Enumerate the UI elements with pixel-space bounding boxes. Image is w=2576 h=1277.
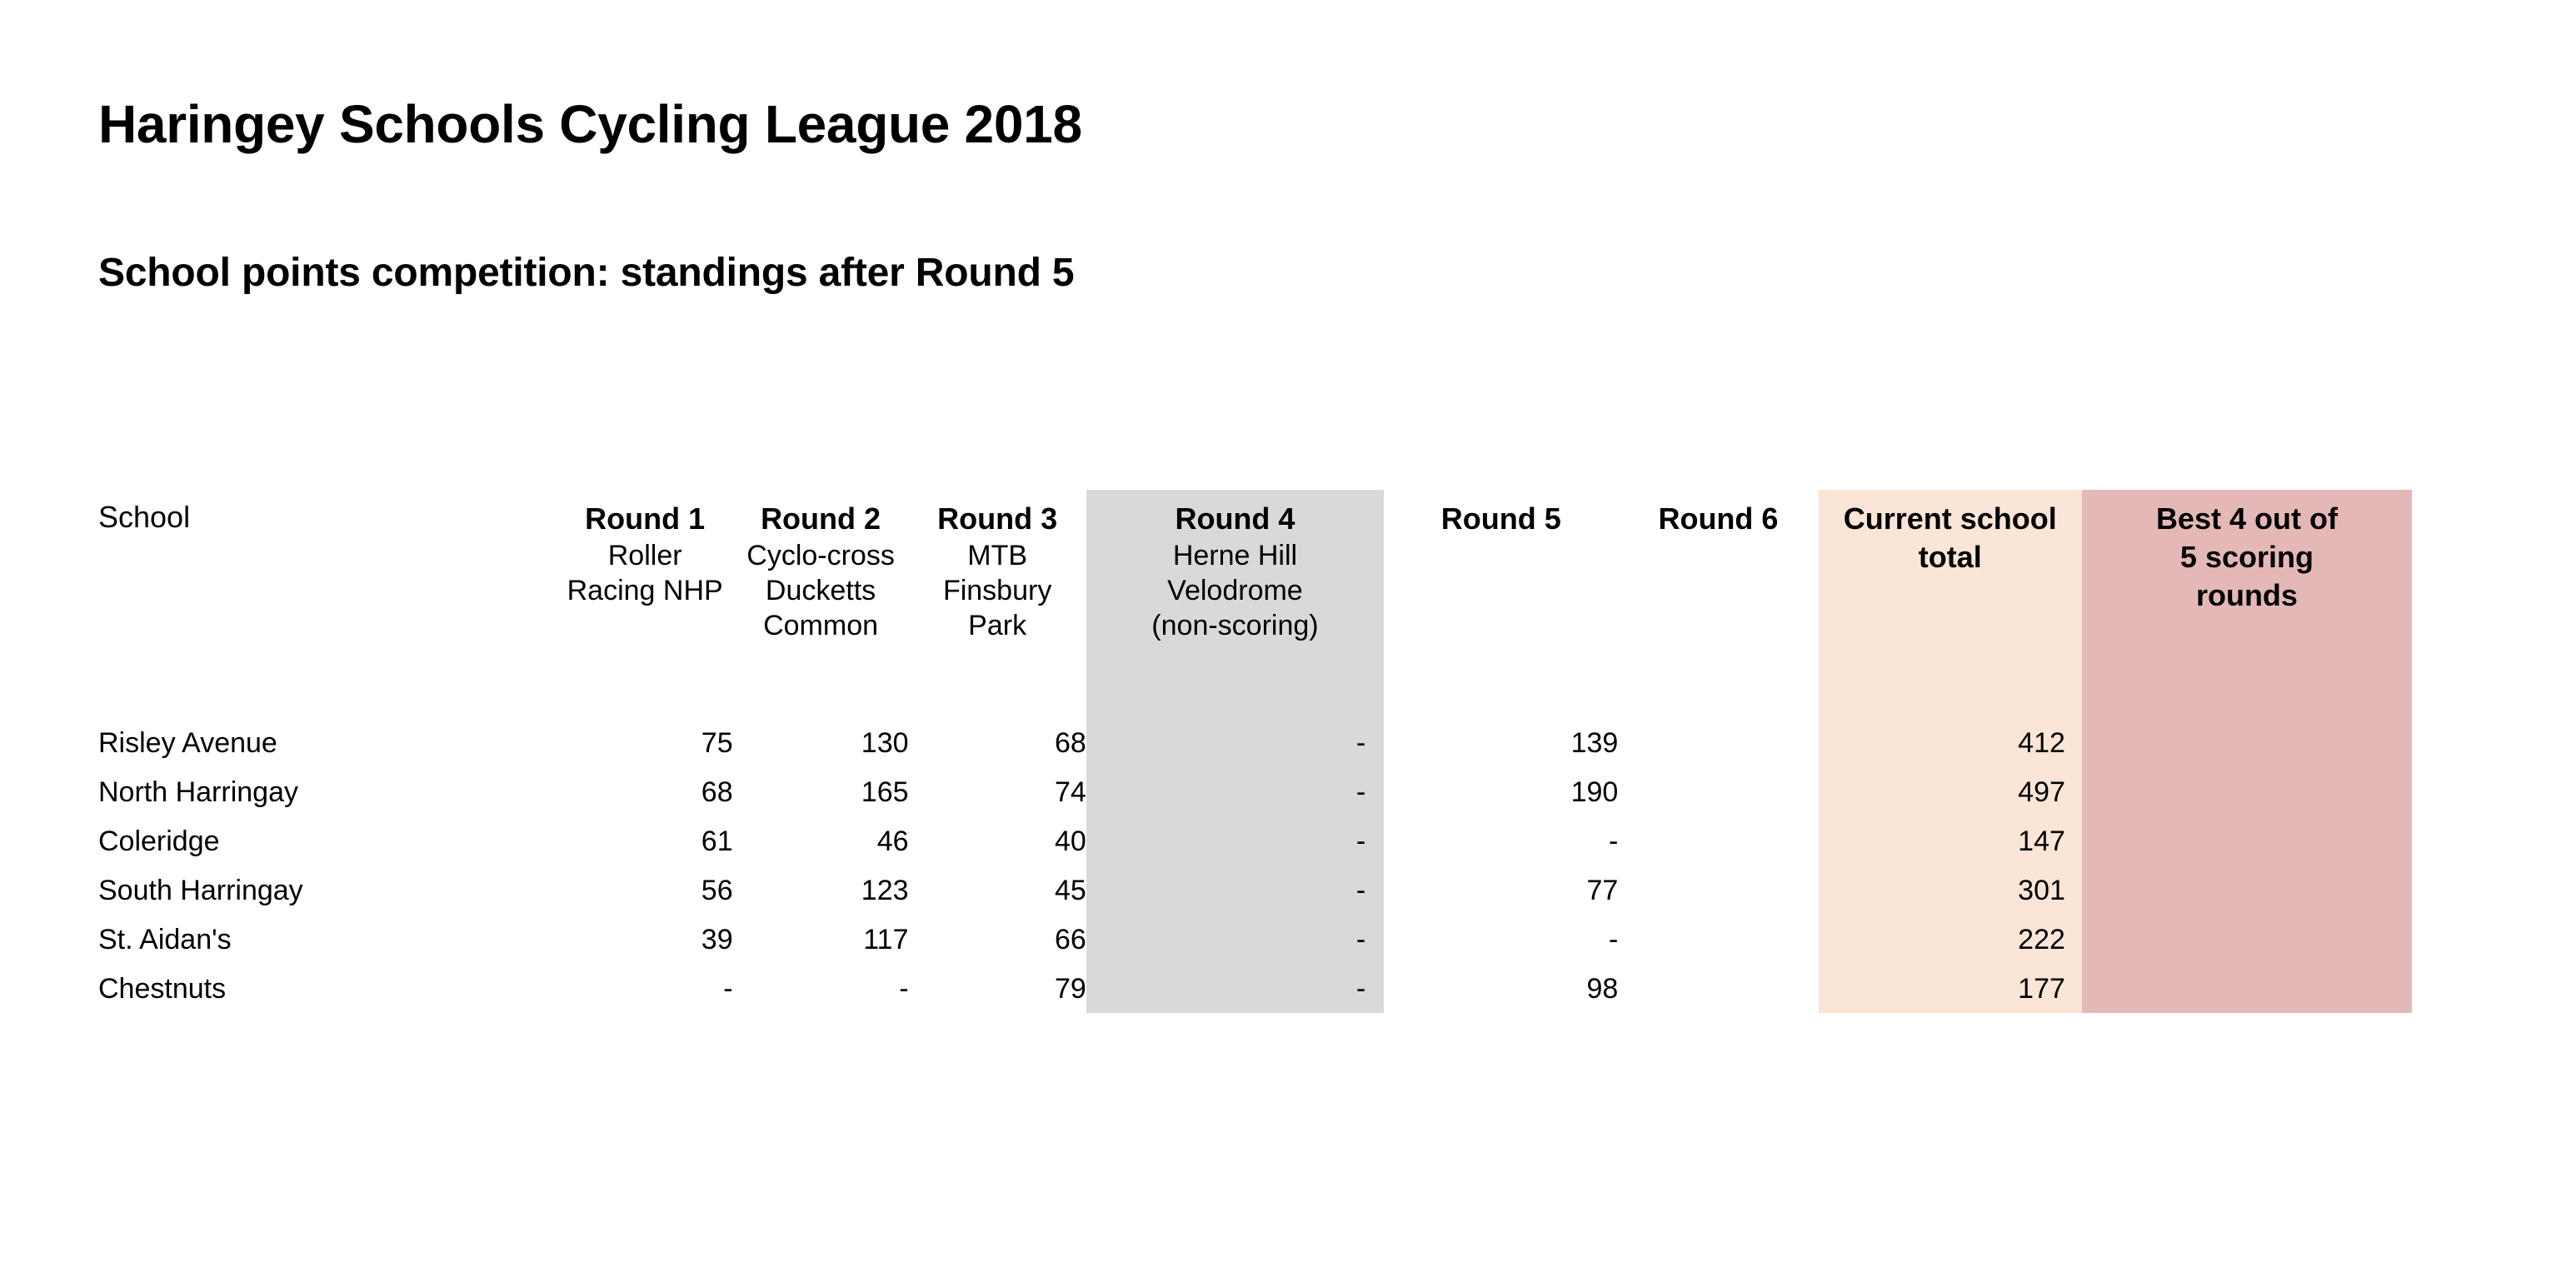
cell-round-6 — [1618, 767, 1818, 816]
round-1-venue-line-1: Roller — [557, 538, 733, 573]
column-header-round-2: Round 2 Cyclo-cross Ducketts Common — [733, 490, 909, 683]
cell-school: North Harringay — [98, 767, 557, 816]
cell-current-total: 147 — [1819, 816, 2082, 865]
best4-label-line-1: Best 4 out of — [2082, 500, 2412, 538]
cell-round-6 — [1618, 865, 1818, 915]
standings-table-container: School Round 1 Roller Racing NHP Round 2… — [98, 490, 2423, 1013]
table-row: Chestnuts - - 79 - 98 177 — [98, 964, 2412, 1013]
cell-round-4: - — [1086, 915, 1384, 964]
header-body-spacer-row — [98, 683, 2412, 718]
round-4-venue-line-3: (non-scoring) — [1086, 608, 1384, 643]
cell-school: Risley Avenue — [98, 718, 557, 767]
header-row: School Round 1 Roller Racing NHP Round 2… — [98, 490, 2412, 683]
table-header: School Round 1 Roller Racing NHP Round 2… — [98, 490, 2412, 683]
round-2-venue-line-1: Cyclo-cross — [733, 538, 909, 573]
cell-round-4: - — [1086, 964, 1384, 1013]
cell-round-5: 98 — [1384, 964, 1618, 1013]
cell-best-4 — [2082, 915, 2412, 964]
spacer-best4 — [2082, 683, 2412, 718]
round-4-label: Round 4 — [1086, 500, 1384, 538]
table-row: North Harringay 68 165 74 - 190 497 — [98, 767, 2412, 816]
round-1-label: Round 1 — [557, 500, 733, 538]
round-2-venue-line-2: Ducketts — [733, 573, 909, 608]
spacer-r4 — [1086, 683, 1384, 718]
cell-round-5: - — [1384, 816, 1618, 865]
round-3-venue-line-2: Finsbury — [909, 573, 1086, 608]
spacer-r3 — [909, 683, 1086, 718]
spacer-r2 — [733, 683, 909, 718]
spacer-school — [98, 683, 557, 718]
round-6-label: Round 6 — [1618, 500, 1818, 538]
cell-round-5: 190 — [1384, 767, 1618, 816]
total-label-line-1: Current school — [1819, 500, 2082, 538]
cell-round-1: 39 — [557, 915, 733, 964]
column-header-round-1: Round 1 Roller Racing NHP — [557, 490, 733, 683]
cell-current-total: 222 — [1819, 915, 2082, 964]
cell-school: Coleridge — [98, 816, 557, 865]
cell-current-total: 301 — [1819, 865, 2082, 915]
table-body: Risley Avenue 75 130 68 - 139 412 North … — [98, 683, 2412, 1013]
round-4-venue-line-2: Velodrome — [1086, 573, 1384, 608]
best4-label-line-2: 5 scoring — [2082, 538, 2412, 576]
column-header-round-4-non-scoring: Round 4 Herne Hill Velodrome (non-scorin… — [1086, 490, 1384, 683]
table-row: South Harringay 56 123 45 - 77 301 — [98, 865, 2412, 915]
round-2-label: Round 2 — [733, 500, 909, 538]
cell-round-3: 66 — [909, 915, 1086, 964]
round-5-label: Round 5 — [1384, 500, 1618, 538]
cell-round-6 — [1618, 816, 1818, 865]
cell-round-6 — [1618, 964, 1818, 1013]
cell-current-total: 177 — [1819, 964, 2082, 1013]
cell-round-4: - — [1086, 865, 1384, 915]
cell-best-4 — [2082, 865, 2412, 915]
round-3-venue-line-3: Park — [909, 608, 1086, 643]
page-title: Haringey Schools Cycling League 2018 — [98, 93, 1082, 155]
cell-round-1: 68 — [557, 767, 733, 816]
cell-round-2: 123 — [733, 865, 909, 915]
cell-school: St. Aidan's — [98, 915, 557, 964]
cell-best-4 — [2082, 816, 2412, 865]
cell-round-4: - — [1086, 816, 1384, 865]
round-3-venue-line-1: MTB — [909, 538, 1086, 573]
spacer-r1 — [557, 683, 733, 718]
column-header-round-5: Round 5 — [1384, 490, 1618, 683]
cell-round-6 — [1618, 718, 1818, 767]
table-row: Coleridge 61 46 40 - - 147 — [98, 816, 2412, 865]
cell-round-3: 79 — [909, 964, 1086, 1013]
cell-round-4: - — [1086, 767, 1384, 816]
cell-round-2: 130 — [733, 718, 909, 767]
spacer-r6 — [1618, 683, 1818, 718]
total-label-line-2: total — [1819, 538, 2082, 576]
table-row: Risley Avenue 75 130 68 - 139 412 — [98, 718, 2412, 767]
cell-best-4 — [2082, 767, 2412, 816]
cell-round-3: 74 — [909, 767, 1086, 816]
cell-best-4 — [2082, 718, 2412, 767]
cell-round-1: - — [557, 964, 733, 1013]
cell-round-2: - — [733, 964, 909, 1013]
spacer-r5 — [1384, 683, 1618, 718]
page-subtitle: School points competition: standings aft… — [98, 250, 1074, 296]
cell-best-4 — [2082, 964, 2412, 1013]
slide-canvas: Haringey Schools Cycling League 2018 Sch… — [0, 0, 2576, 1277]
column-header-best-4-of-5: Best 4 out of 5 scoring rounds — [2082, 490, 2412, 683]
cell-round-2: 117 — [733, 915, 909, 964]
round-4-venue-line-1: Herne Hill — [1086, 538, 1384, 573]
standings-table: School Round 1 Roller Racing NHP Round 2… — [98, 490, 2412, 1013]
cell-school: Chestnuts — [98, 964, 557, 1013]
round-2-venue-line-3: Common — [733, 608, 909, 643]
cell-round-1: 56 — [557, 865, 733, 915]
cell-round-1: 75 — [557, 718, 733, 767]
round-3-label: Round 3 — [909, 500, 1086, 538]
table-row: St. Aidan's 39 117 66 - - 222 — [98, 915, 2412, 964]
cell-school: South Harringay — [98, 865, 557, 915]
cell-round-5: - — [1384, 915, 1618, 964]
column-header-round-3: Round 3 MTB Finsbury Park — [909, 490, 1086, 683]
cell-round-2: 165 — [733, 767, 909, 816]
column-header-current-school-total: Current school total — [1819, 490, 2082, 683]
round-1-venue-line-2: Racing NHP — [557, 573, 733, 608]
cell-current-total: 497 — [1819, 767, 2082, 816]
best4-label-line-3: rounds — [2082, 576, 2412, 615]
cell-round-3: 40 — [909, 816, 1086, 865]
column-header-school: School — [98, 490, 557, 683]
column-header-round-6: Round 6 — [1618, 490, 1818, 683]
cell-round-3: 45 — [909, 865, 1086, 915]
cell-round-2: 46 — [733, 816, 909, 865]
cell-round-6 — [1618, 915, 1818, 964]
cell-round-1: 61 — [557, 816, 733, 865]
cell-round-3: 68 — [909, 718, 1086, 767]
cell-round-5: 139 — [1384, 718, 1618, 767]
spacer-total — [1819, 683, 2082, 718]
cell-round-5: 77 — [1384, 865, 1618, 915]
cell-round-4: - — [1086, 718, 1384, 767]
cell-current-total: 412 — [1819, 718, 2082, 767]
